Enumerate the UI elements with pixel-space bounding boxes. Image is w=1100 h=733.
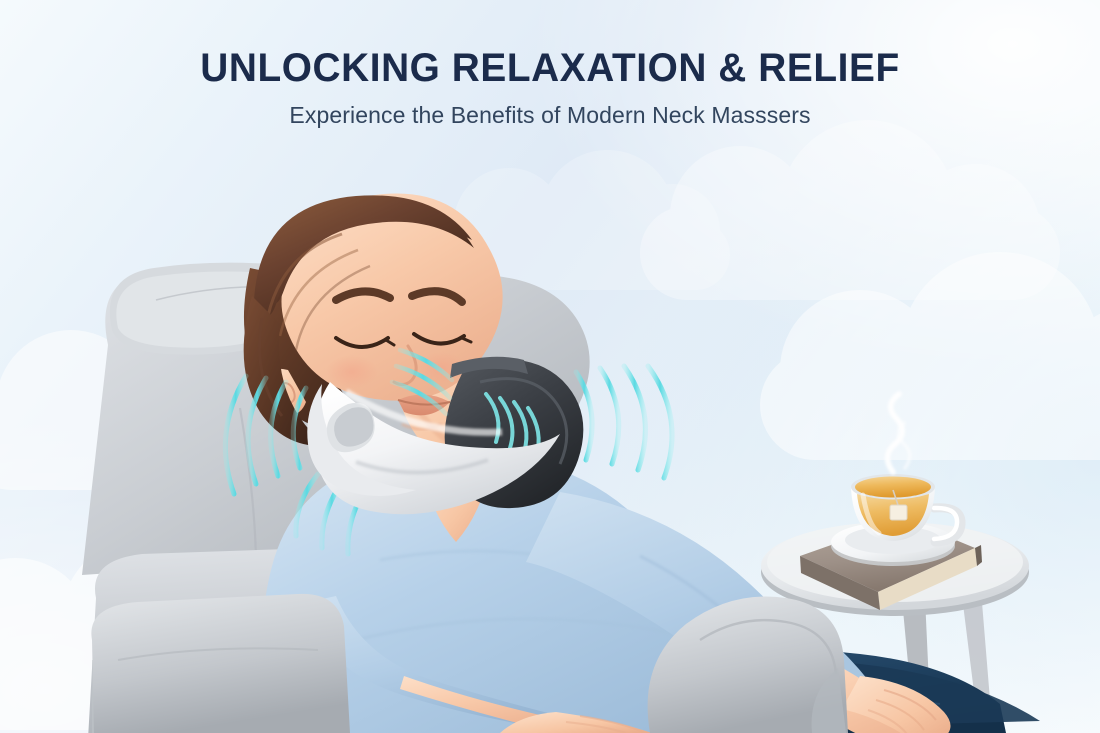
steam xyxy=(887,394,909,472)
header-block: UNLOCKING RELAXATION & RELIEF Experience… xyxy=(0,48,1100,129)
tea-cup xyxy=(831,474,961,566)
chair-arm-left xyxy=(91,594,350,733)
page-subtitle: Experience the Benefits of Modern Neck M… xyxy=(0,102,1100,129)
page-title: UNLOCKING RELAXATION & RELIEF xyxy=(17,48,1084,88)
hero-illustration: UNLOCKING RELAXATION & RELIEF Experience… xyxy=(0,0,1100,733)
